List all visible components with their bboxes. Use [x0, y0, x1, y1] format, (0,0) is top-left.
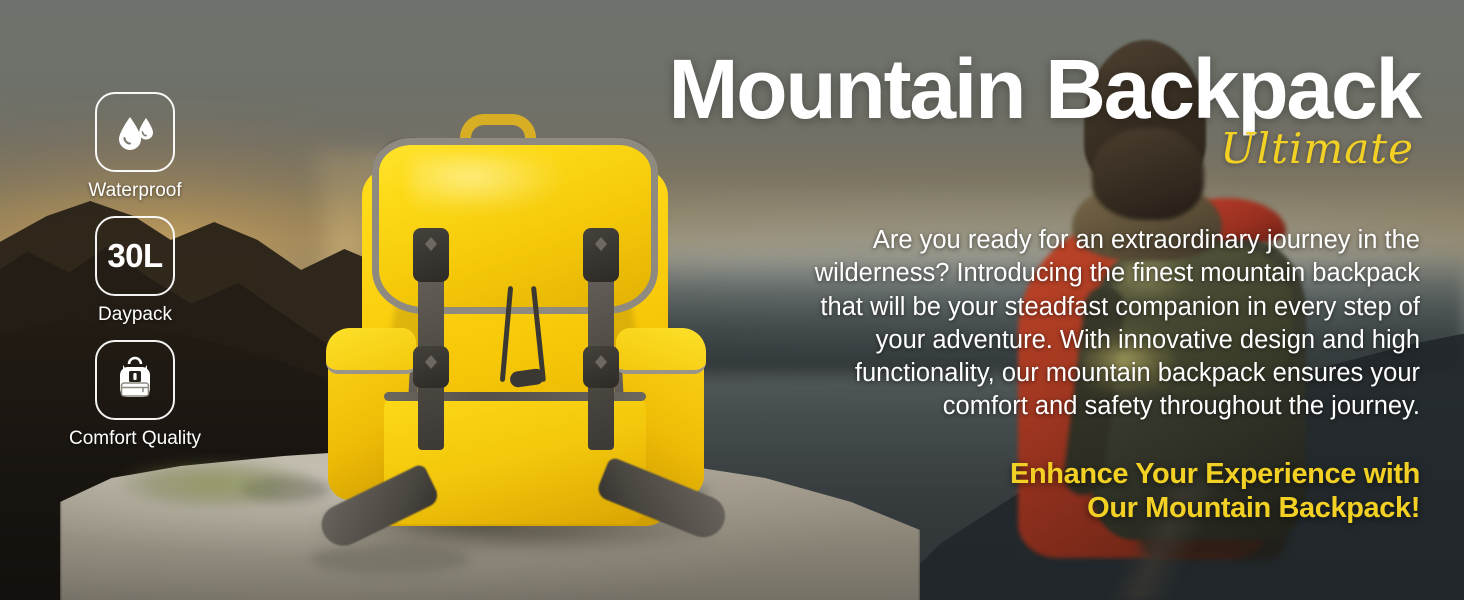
backpack-buckle-left-lower: [413, 346, 449, 388]
copy-column: Mountain Backpack Ultimate Are you ready…: [630, 48, 1420, 526]
feature-badge-frame: 30L: [95, 216, 175, 296]
backpack-buckle-right-lower: [583, 346, 619, 388]
cta-line-2: Our Mountain Backpack!: [630, 491, 1420, 525]
feature-label: Waterproof: [88, 181, 181, 202]
backpack-buckle-left: [413, 228, 449, 282]
backpack-drawstring-knot: [509, 368, 545, 389]
feature-label: Daypack: [98, 305, 172, 326]
cta-line-1: Enhance Your Experience with: [630, 457, 1420, 491]
rock-moss: [120, 460, 310, 508]
promo-banner: Waterproof 30L Daypack: [0, 0, 1464, 600]
backpack-icon: [110, 355, 160, 405]
page-title: Mountain Backpack: [630, 48, 1420, 130]
backpack-flap-highlight: [410, 154, 560, 212]
feature-badge-frame: [95, 340, 175, 420]
feature-label: Comfort Quality: [69, 429, 201, 450]
backpack-pocket-flap-left: [326, 328, 416, 374]
volume-30l-icon: 30L: [107, 239, 162, 272]
description-paragraph: Are you ready for an extraordinary journ…: [800, 224, 1420, 423]
cta-text: Enhance Your Experience with Our Mountai…: [630, 457, 1420, 525]
backpack-buckle-right: [583, 228, 619, 282]
feature-badge-frame: [95, 92, 175, 172]
feature-comfort-quality: Comfort Quality: [69, 340, 201, 450]
feature-daypack: 30L Daypack: [95, 216, 175, 326]
water-drops-icon: [111, 108, 159, 156]
feature-waterproof: Waterproof: [88, 92, 181, 202]
backpack-drawstring: [496, 286, 562, 390]
feature-badge-list: Waterproof 30L Daypack: [48, 92, 222, 450]
